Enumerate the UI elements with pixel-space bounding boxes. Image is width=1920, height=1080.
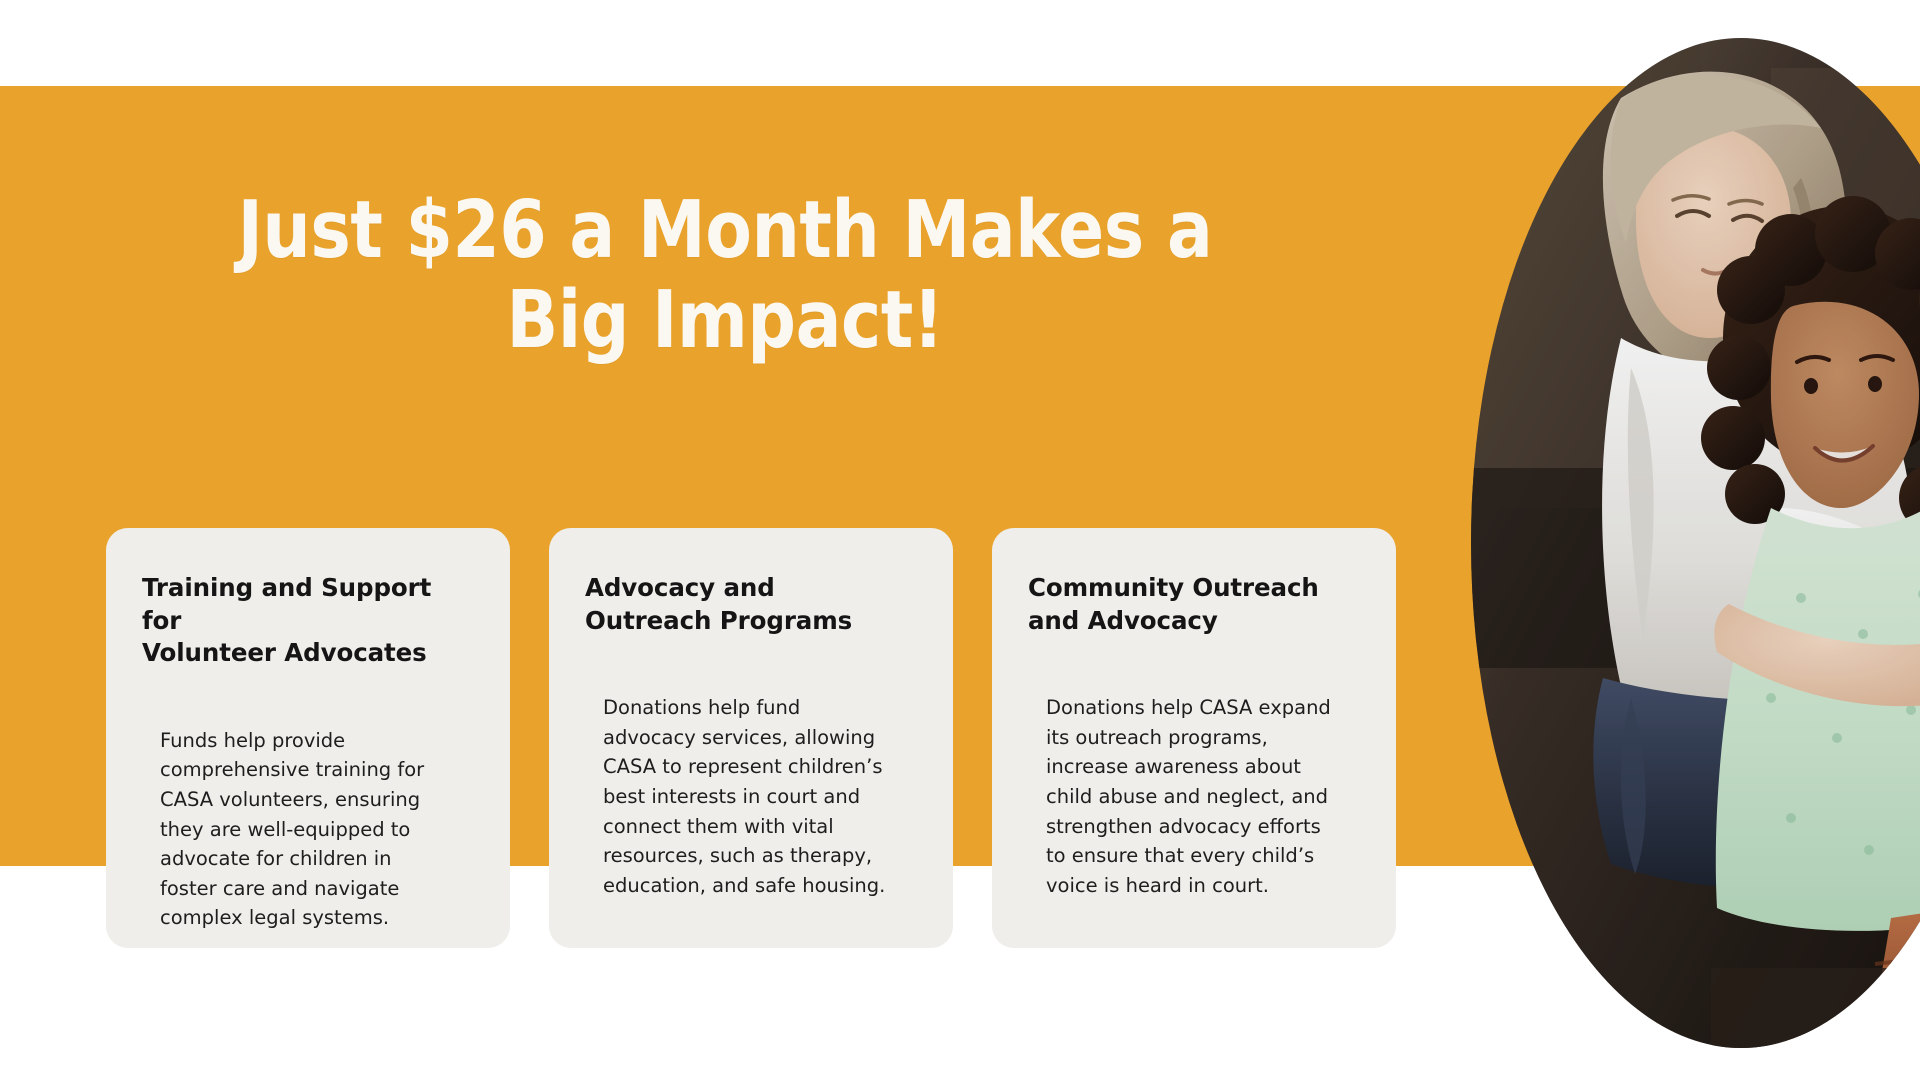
page-title: Just $26 a Month Makes a Big Impact! — [136, 185, 1314, 365]
card-title: Training and Support for Volunteer Advoc… — [142, 572, 474, 670]
impact-cards-row: Training and Support for Volunteer Advoc… — [106, 528, 1396, 948]
card-divider-space — [585, 637, 917, 693]
slide-canvas: Just $26 a Month Makes a Big Impact! — [0, 0, 1920, 1080]
card-title: Advocacy and Outreach Programs — [585, 572, 917, 637]
impact-card[interactable]: Community Outreach and Advocacy Donation… — [992, 528, 1396, 948]
card-body-text: Donations help fund advocacy services, a… — [585, 693, 917, 900]
card-body-text: Donations help CASA expand its outreach … — [1028, 693, 1360, 900]
impact-card[interactable]: Training and Support for Volunteer Advoc… — [106, 528, 510, 948]
card-divider-space — [142, 670, 474, 726]
card-title: Community Outreach and Advocacy — [1028, 572, 1360, 637]
card-body-text: Funds help provide comprehensive trainin… — [142, 726, 474, 933]
card-divider-space — [1028, 637, 1360, 693]
impact-card[interactable]: Advocacy and Outreach Programs Donations… — [549, 528, 953, 948]
